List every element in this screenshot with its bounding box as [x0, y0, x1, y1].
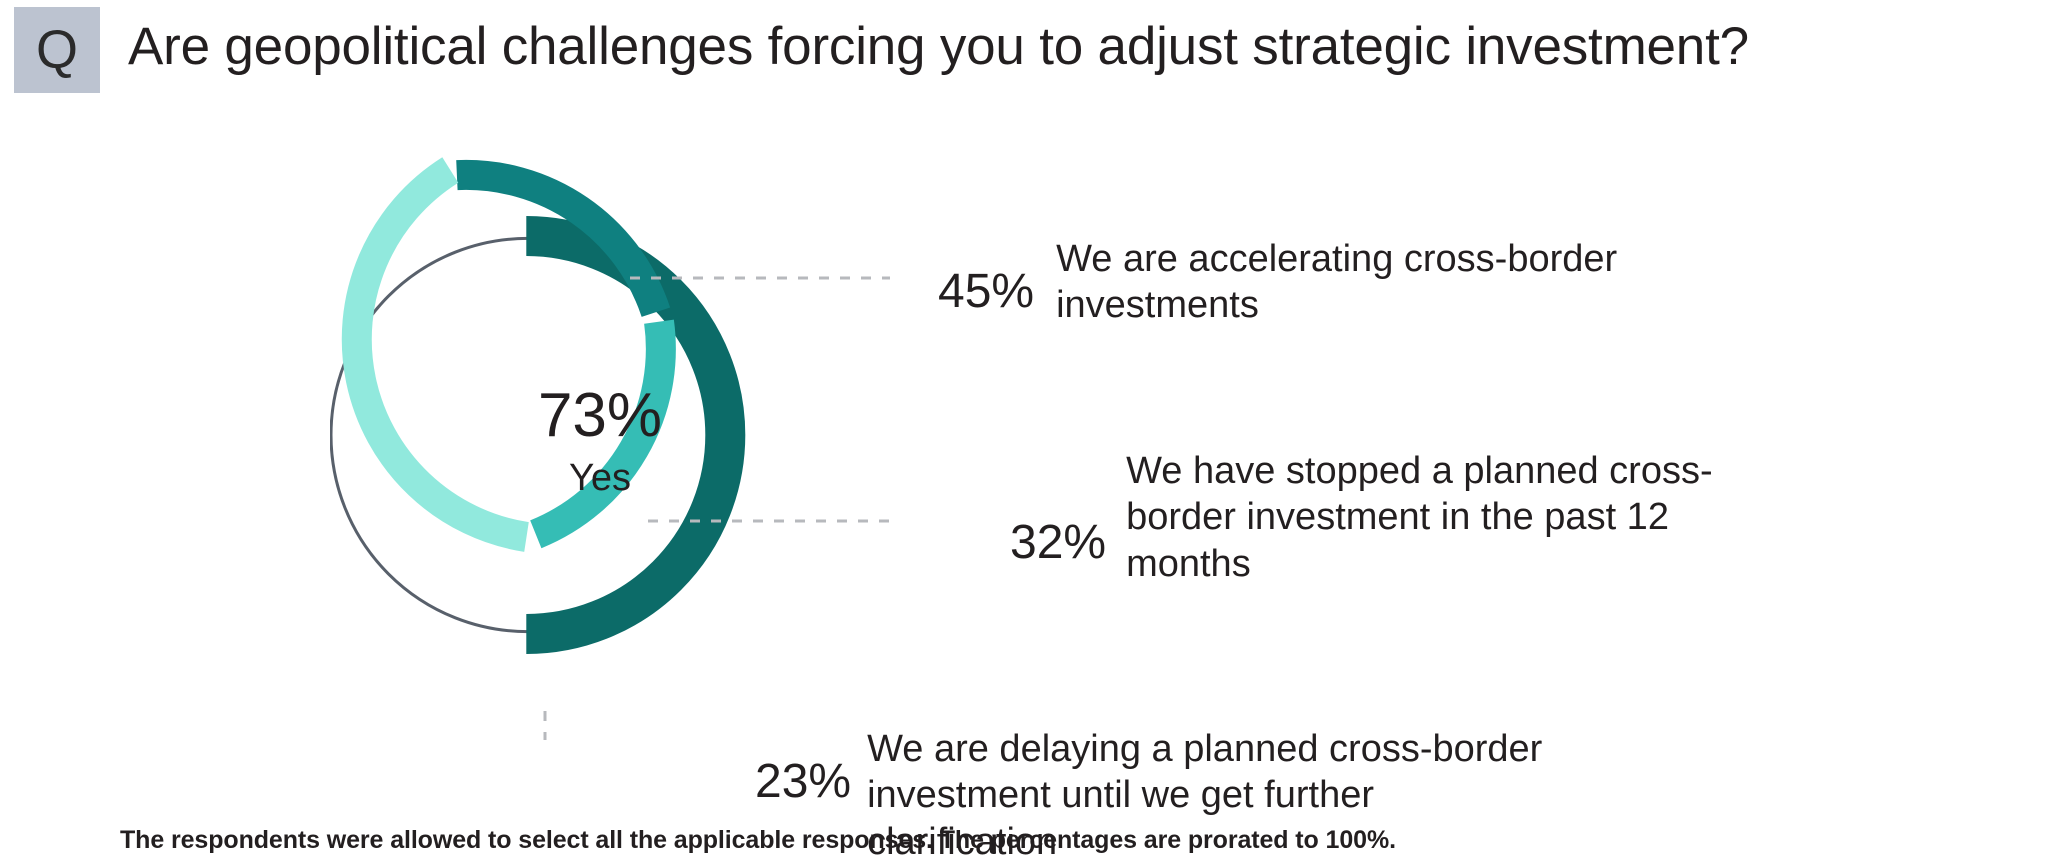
callout-accelerating-text: We are accelerating cross-border investm…	[1056, 236, 1638, 329]
callout-accelerating: 45% We are accelerating cross-border inv…	[938, 228, 1638, 329]
page-title: Are geopolitical challenges forcing you …	[128, 14, 1749, 80]
donut-center-caption: Yes	[475, 455, 725, 503]
footnote: The respondents were allowed to select a…	[120, 826, 1396, 855]
donut-center-value: 73%	[475, 385, 725, 447]
callout-stopped-percent: 32%	[1010, 515, 1106, 570]
callout-stopped: 32% We have stopped a planned cross-bord…	[1010, 440, 1730, 587]
callout-stopped-text: We have stopped a planned cross-border i…	[1126, 448, 1730, 587]
callout-delaying-percent: 23%	[755, 754, 851, 809]
header: Q Are geopolitical challenges forcing yo…	[0, 0, 2048, 110]
question-badge-letter: Q	[36, 23, 78, 77]
leader-line-delaying	[545, 711, 760, 740]
donut-center-label: 73% Yes	[475, 385, 725, 503]
question-badge: Q	[14, 7, 100, 93]
outer-segment-accelerating	[457, 175, 656, 312]
callout-accelerating-percent: 45%	[938, 264, 1034, 319]
